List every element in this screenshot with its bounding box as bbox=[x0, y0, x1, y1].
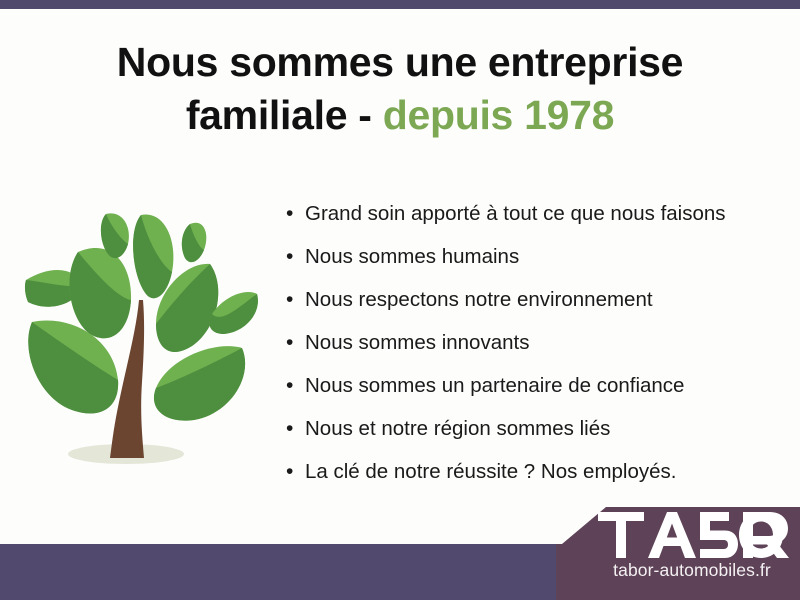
bullet-marker-icon: • bbox=[286, 321, 305, 364]
title-line-2-static: familiale - bbox=[186, 92, 383, 138]
list-item: • Nous sommes innovants bbox=[286, 321, 786, 364]
list-item-label: Nous respectons notre environnement bbox=[305, 278, 653, 321]
tabor-logo-letter-r bbox=[743, 512, 791, 558]
leaf-upper-left-large bbox=[69, 248, 131, 338]
list-item-label: Nous sommes humains bbox=[305, 235, 519, 278]
page-title: Nous sommes une entreprise familiale - d… bbox=[40, 36, 760, 142]
leaf-lower-right-large bbox=[154, 346, 245, 421]
title-line-1: Nous sommes une entreprise bbox=[40, 36, 760, 89]
tree-illustration bbox=[14, 182, 266, 482]
bullet-marker-icon: • bbox=[286, 450, 305, 493]
tree-illustration-svg bbox=[14, 182, 266, 482]
bullet-marker-icon: • bbox=[286, 364, 305, 407]
list-item-label: La clé de notre réussite ? Nos employés. bbox=[305, 450, 676, 493]
title-line-2-accent: depuis 1978 bbox=[383, 92, 614, 138]
bullet-marker-icon: • bbox=[286, 192, 305, 235]
bullet-marker-icon: • bbox=[286, 235, 305, 278]
title-line-2: familiale - depuis 1978 bbox=[40, 89, 760, 142]
list-item: • Nous et notre région sommes liés bbox=[286, 407, 786, 450]
list-item: • Nous sommes humains bbox=[286, 235, 786, 278]
list-item: • Nous sommes un partenaire de confiance bbox=[286, 364, 786, 407]
list-item: • Grand soin apporté à tout ce que nous … bbox=[286, 192, 786, 235]
bullet-marker-icon: • bbox=[286, 278, 305, 321]
list-item: • Nous respectons notre environnement bbox=[286, 278, 786, 321]
list-item-label: Nous et notre région sommes liés bbox=[305, 407, 610, 450]
logo-url-label: tabor-automobiles.fr bbox=[598, 560, 786, 581]
bullet-marker-icon: • bbox=[286, 407, 305, 450]
list-item: • La clé de notre réussite ? Nos employé… bbox=[286, 450, 786, 493]
leaf-top-small-right bbox=[182, 223, 206, 262]
value-list: • Grand soin apporté à tout ce que nous … bbox=[286, 192, 786, 493]
list-item-label: Nous sommes un partenaire de confiance bbox=[305, 364, 684, 407]
top-accent-bar bbox=[0, 0, 800, 9]
list-item-label: Grand soin apporté à tout ce que nous fa… bbox=[305, 192, 726, 235]
list-item-label: Nous sommes innovants bbox=[305, 321, 529, 364]
leaf-top-center bbox=[133, 214, 173, 298]
slide-canvas: Nous sommes une entreprise familiale - d… bbox=[0, 0, 800, 600]
